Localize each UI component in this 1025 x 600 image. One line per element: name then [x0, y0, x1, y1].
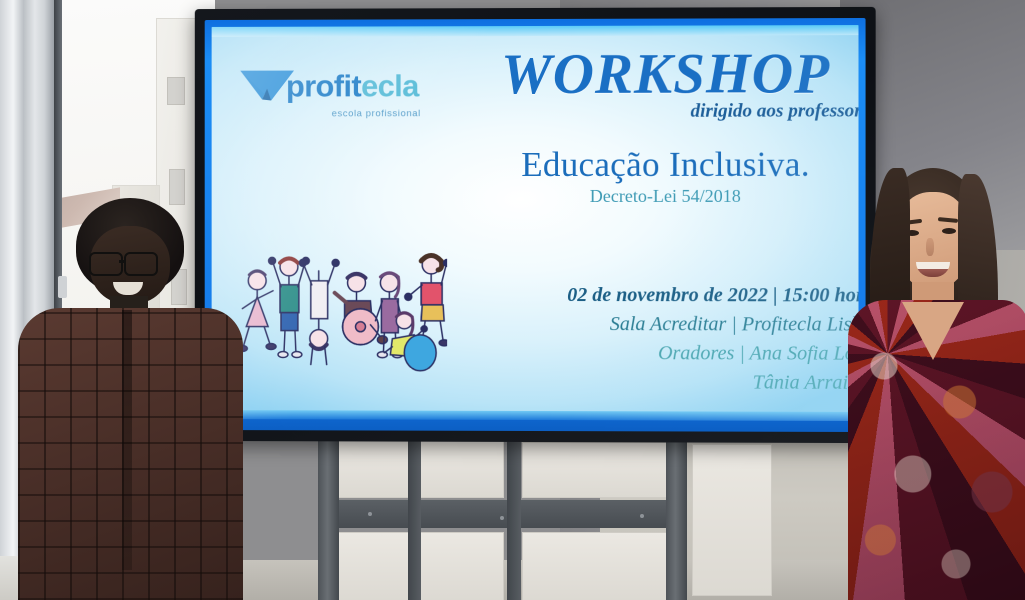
cabinet-door — [522, 442, 668, 498]
detail-speaker-2: Tânia Arraiolos — [465, 368, 858, 398]
slide-details-block: 02 de novembro de 2022 | 15:00 horas Sal… — [465, 281, 858, 398]
photo-scene: profitecla escola profissional WORKSHOP … — [0, 0, 1025, 600]
detail-speaker-1: Oradores | Ana Sofia Lopes — [465, 339, 858, 369]
wall-mounted-tv: profitecla escola profissional WORKSHOP … — [195, 7, 876, 443]
stand-post-inner-left — [408, 430, 421, 600]
logo-word-1: profit — [286, 68, 361, 103]
cabinet-door — [522, 532, 668, 600]
logo-tagline: escola profissional — [332, 108, 421, 119]
logo-wordmark: profitecla — [286, 70, 419, 101]
stand-post-left — [318, 430, 339, 600]
children-drawing-illustration — [233, 241, 447, 391]
stand-post-inner-right — [507, 430, 521, 600]
woman-left — [18, 190, 243, 600]
nose — [926, 238, 934, 256]
logo-word-2: ecla — [361, 68, 419, 103]
slide-topic: Educação Inclusiva. — [450, 145, 858, 185]
slide-law-reference: Decreto-Lei 54/2018 — [450, 186, 858, 207]
tv-stand — [300, 430, 770, 600]
profitecla-logo: profitecla escola profissional — [234, 64, 423, 142]
cabinet-door — [692, 444, 772, 596]
detail-venue: Sala Acreditar | Profitecla Lisboa — [465, 310, 858, 340]
shirt-placket — [122, 310, 132, 570]
presentation-slide: profitecla escola profissional WORKSHOP … — [212, 25, 859, 421]
slide-headline-block: WORKSHOP dirigido aos professores Educaç… — [450, 45, 858, 207]
eyeglasses-left-lens — [89, 252, 123, 276]
woman-right — [850, 168, 1025, 600]
eyeglasses-bridge — [119, 260, 126, 263]
eye-right — [942, 228, 956, 234]
tv-screen: profitecla escola profissional WORKSHOP … — [212, 25, 859, 421]
detail-date-time: 02 de novembro de 2022 | 15:00 horas — [465, 281, 858, 311]
stand-post-right — [666, 430, 687, 600]
slide-title: WORKSHOP — [450, 45, 858, 104]
stand-crossbar — [322, 500, 684, 528]
eyeglasses-right-lens — [124, 252, 158, 276]
